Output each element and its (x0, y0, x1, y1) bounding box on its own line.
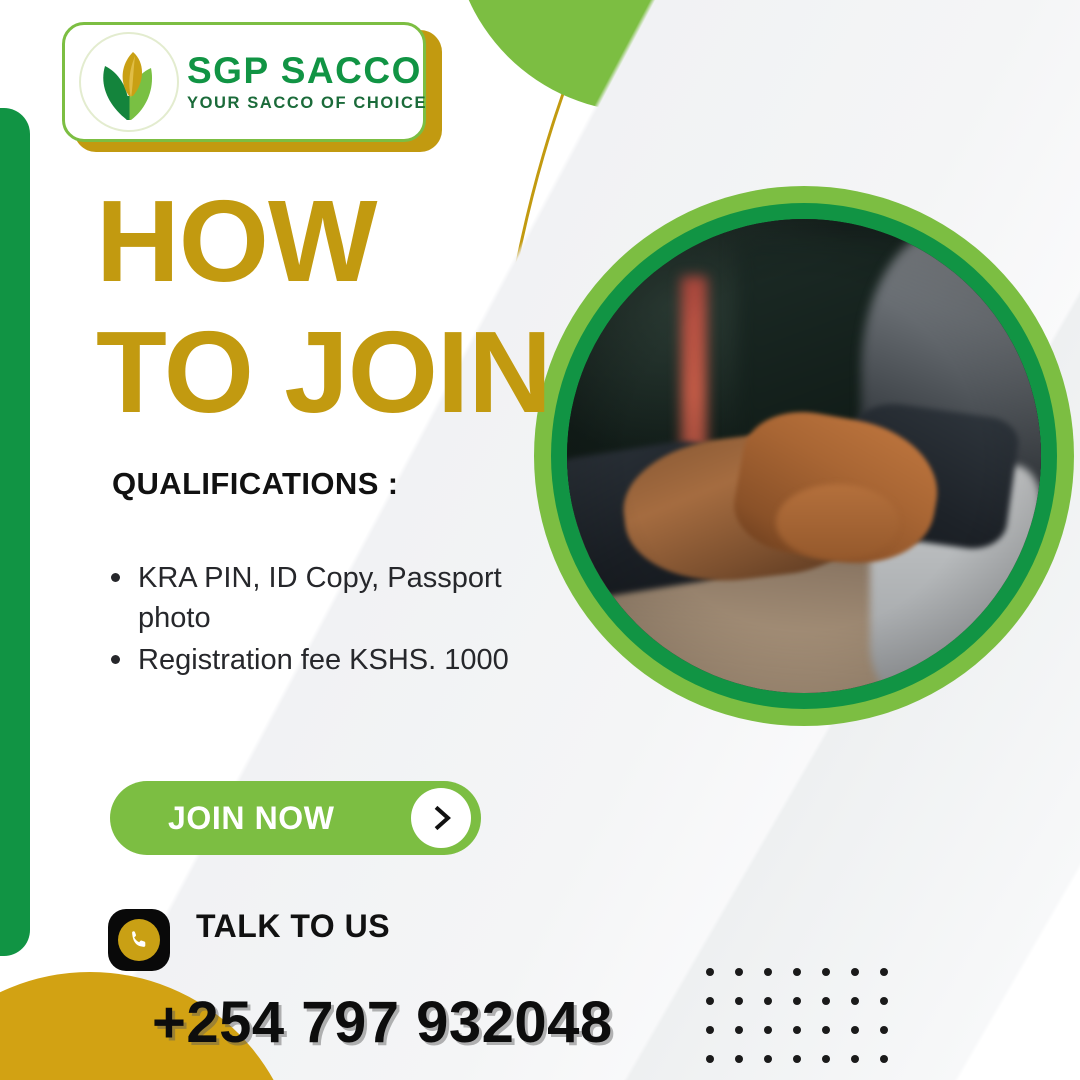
qualifications-heading: QUALIFICATIONS : (112, 466, 399, 502)
brand-tagline: YOUR SACCO OF CHOICE (187, 95, 427, 112)
handshake-photo-art (567, 219, 1041, 693)
phone-number[interactable]: +254 797 932048 (152, 989, 613, 1056)
join-now-button[interactable]: JOIN NOW (110, 781, 481, 855)
brand-logo-text: SGP SACCO YOUR SACCO OF CHOICE (187, 52, 427, 112)
qualifications-list: KRA PIN, ID Copy, Passport photo Registr… (108, 558, 568, 682)
bullet-dot-icon (111, 655, 120, 664)
headline-line-1: HOW (96, 176, 377, 306)
list-item-label: KRA PIN, ID Copy, Passport photo (138, 562, 502, 634)
phone-icon-disc (118, 919, 160, 961)
photo-outer-ring (534, 186, 1074, 726)
join-now-label: JOIN NOW (168, 800, 335, 837)
list-item-label: Registration fee KSHS. 1000 (138, 644, 509, 676)
brand-name: SGP SACCO (187, 52, 427, 89)
phone-handset-icon[interactable] (108, 909, 170, 971)
list-item: Registration fee KSHS. 1000 (138, 640, 568, 680)
talk-to-us-label: TALK TO US (196, 908, 390, 945)
page-title: HOW TO JOIN (96, 186, 551, 429)
handshake-photo (567, 219, 1041, 693)
chevron-right-icon[interactable] (411, 788, 471, 848)
headline-line-2: TO JOIN (96, 317, 551, 428)
poster-canvas: SGP SACCO YOUR SACCO OF CHOICE HOW TO JO… (0, 0, 1080, 1080)
list-item: KRA PIN, ID Copy, Passport photo (138, 558, 568, 638)
bullet-dot-icon (111, 573, 120, 582)
dot-grid-decor (706, 968, 909, 1080)
brand-logo[interactable]: SGP SACCO YOUR SACCO OF CHOICE (62, 22, 426, 142)
three-leaves-icon (79, 32, 179, 132)
left-green-bar-decor (0, 108, 30, 956)
